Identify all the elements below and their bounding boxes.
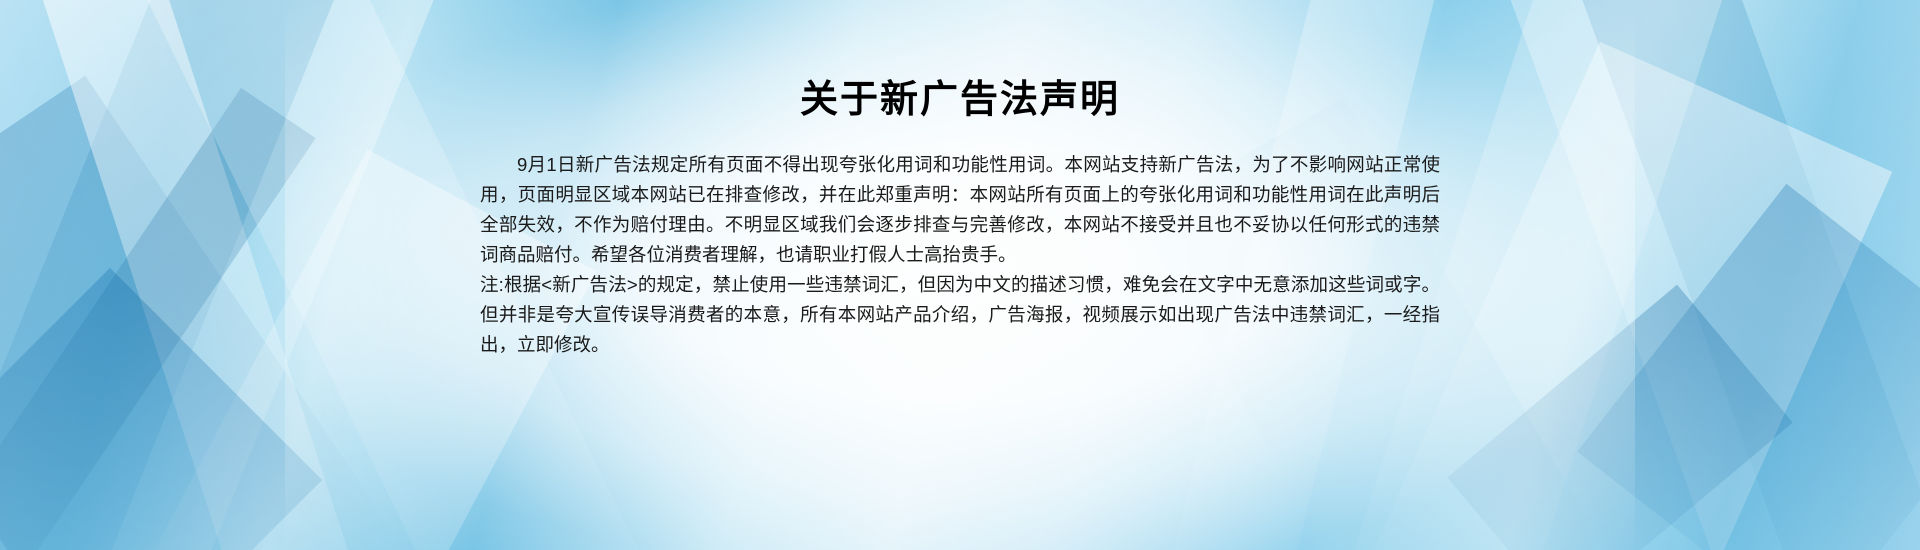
background-shard-2: [0, 0, 387, 550]
background-shard-1: [0, 0, 453, 550]
background-shard-15: [1447, 285, 1793, 550]
background-shard-6: [0, 268, 322, 550]
background-shard-4: [36, 0, 385, 550]
background-shard-9: [1482, 0, 1920, 550]
statement-paragraph-note: 注:根据<新广告法>的规定，禁止使用一些违禁词汇，但因为中文的描述习惯，难免会在…: [480, 270, 1440, 360]
background-shard-7: [0, 88, 316, 550]
page-title: 关于新广告法声明: [800, 78, 1120, 124]
statement-content: 关于新广告法声明 9月1日新广告法规定所有页面不得出现夸张化用词和功能性用词。本…: [460, 0, 1460, 550]
background-shard-10: [1551, 0, 1920, 550]
background-shard-12: [1577, 184, 1920, 550]
statement-text-block: 9月1日新广告法规定所有页面不得出现夸张化用词和功能性用词。本网站支持新广告法，…: [480, 150, 1440, 360]
background-shard-3: [0, 76, 398, 550]
advertising-law-statement-banner: 关于新广告法声明 9月1日新广告法规定所有页面不得出现夸张化用词和功能性用词。本…: [0, 0, 1920, 550]
statement-paragraph-main: 9月1日新广告法规定所有页面不得出现夸张化用词和功能性用词。本网站支持新广告法，…: [480, 150, 1440, 270]
